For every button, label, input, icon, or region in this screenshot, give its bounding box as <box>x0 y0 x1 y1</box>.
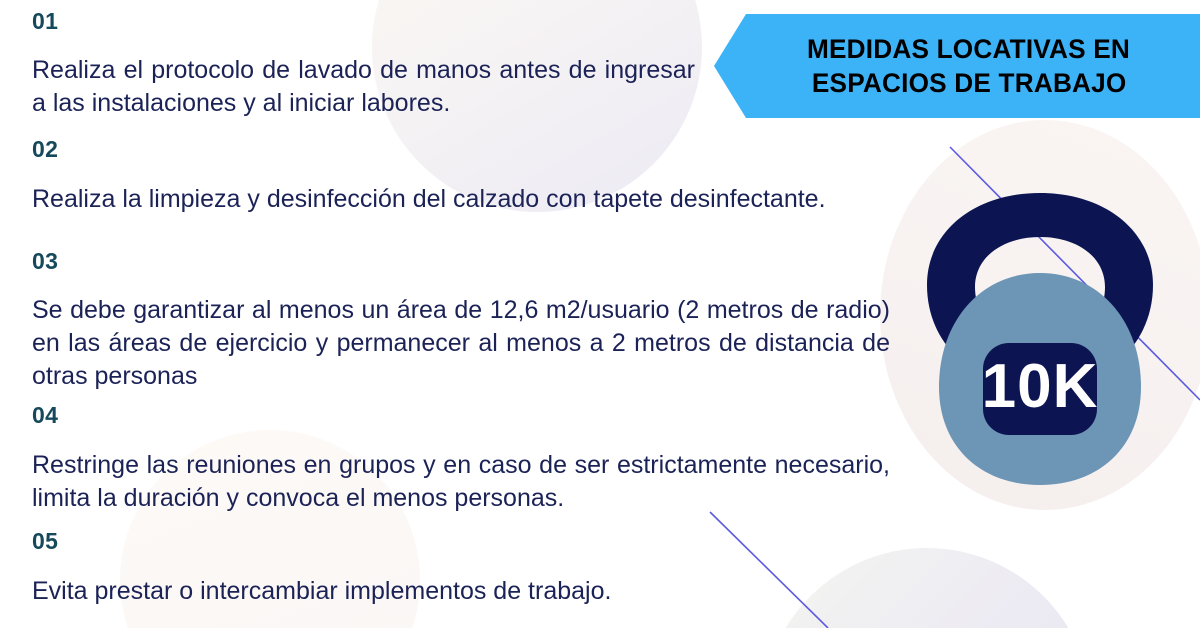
measure-text-01: Realiza el protocolo de lavado de manos … <box>32 54 695 120</box>
kettlebell-icon: 10K <box>905 185 1175 490</box>
measure-text-04: Restringe las reuniones en grupos y en c… <box>32 449 890 515</box>
measure-number-05: 05 <box>32 528 732 554</box>
measure-number-03: 03 <box>32 248 890 274</box>
kettlebell-svg: 10K <box>905 185 1175 490</box>
measure-item-04: 04 Restringe las reuniones en grupos y e… <box>32 402 890 515</box>
decorative-circle-bottom-lavender <box>762 548 1092 628</box>
measure-number-04: 04 <box>32 402 890 428</box>
measure-item-05: 05 Evita prestar o intercambiar implemen… <box>32 528 732 608</box>
header-title-line-2: ESPACIOS DE TRABAJO <box>812 66 1127 100</box>
measure-text-02: Realiza la limpieza y desinfección del c… <box>32 183 844 216</box>
measure-number-01: 01 <box>32 8 695 34</box>
measure-text-03: Se debe garantizar al menos un área de 1… <box>32 294 890 393</box>
header-banner: MEDIDAS LOCATIVAS EN ESPACIOS DE TRABAJO <box>714 14 1200 118</box>
measure-text-05: Evita prestar o intercambiar implementos… <box>32 575 732 608</box>
measure-item-03: 03 Se debe garantizar al menos un área d… <box>32 248 890 393</box>
measure-number-02: 02 <box>32 136 844 162</box>
header-title-line-1: MEDIDAS LOCATIVAS EN <box>807 32 1130 66</box>
measure-item-02: 02 Realiza la limpieza y desinfección de… <box>32 136 844 216</box>
kettlebell-weight-label: 10K <box>982 352 1099 421</box>
infographic-slide: MEDIDAS LOCATIVAS EN ESPACIOS DE TRABAJO… <box>0 0 1200 628</box>
measure-item-01: 01 Realiza el protocolo de lavado de man… <box>32 8 695 120</box>
